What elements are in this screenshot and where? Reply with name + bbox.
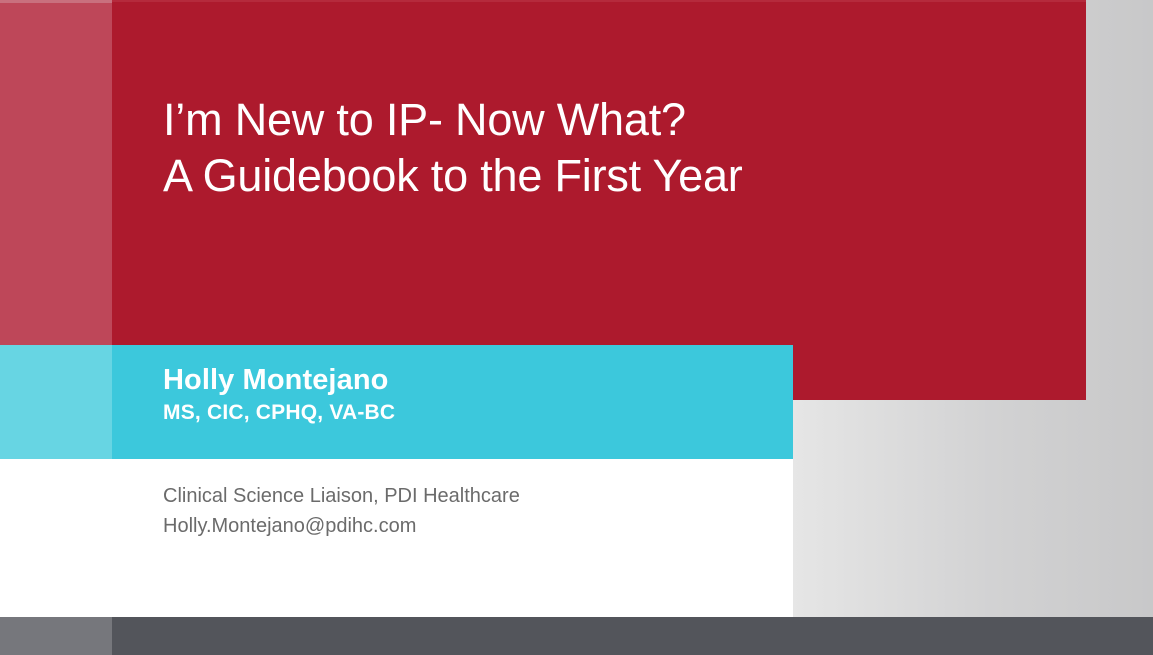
bottom-bar-left-accent (0, 617, 112, 655)
left-accent-strip-cyan (0, 345, 112, 459)
contact-block: Clinical Science Liaison, PDI Healthcare… (163, 481, 763, 541)
presenter-block: Holly Montejano MS, CIC, CPHQ, VA-BC (163, 362, 763, 428)
presenter-email: Holly.Montejano@pdihc.com (163, 511, 763, 541)
presenter-name: Holly Montejano (163, 362, 763, 398)
slide-title-line-1: I’m New to IP- Now What? (163, 92, 1043, 148)
presenter-credentials: MS, CIC, CPHQ, VA-BC (163, 398, 763, 428)
title-slide: I’m New to IP- Now What? A Guidebook to … (0, 0, 1153, 655)
presenter-role: Clinical Science Liaison, PDI Healthcare (163, 481, 763, 511)
red-panel-top-highlight (112, 0, 1086, 2)
left-accent-strip-red (0, 0, 112, 345)
slide-title-line-2: A Guidebook to the First Year (163, 148, 1043, 204)
left-accent-strip-top-highlight (0, 0, 112, 3)
slide-title: I’m New to IP- Now What? A Guidebook to … (163, 92, 1043, 204)
bottom-bar (0, 617, 1153, 655)
